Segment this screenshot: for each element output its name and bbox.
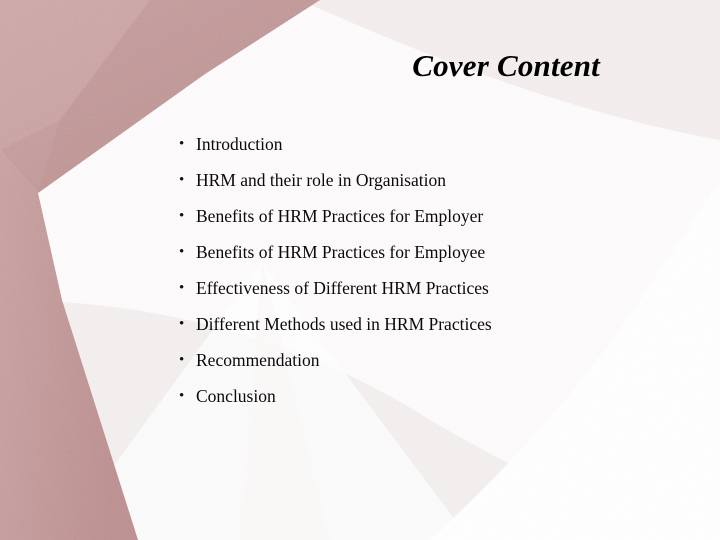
- list-item-label: Different Methods used in HRM Practices: [196, 314, 492, 334]
- list-item-label: Benefits of HRM Practices for Employer: [196, 206, 483, 226]
- bullet-marker-icon: •: [179, 270, 184, 306]
- list-item: • Different Methods used in HRM Practice…: [176, 306, 646, 342]
- bullet-marker-icon: •: [179, 342, 184, 378]
- list-item-label: HRM and their role in Organisation: [196, 170, 446, 190]
- list-item-label: Benefits of HRM Practices for Employee: [196, 242, 485, 262]
- list-item: • Benefits of HRM Practices for Employee: [176, 234, 646, 270]
- bullet-marker-icon: •: [179, 378, 184, 414]
- list-item: • Introduction: [176, 126, 646, 162]
- bullet-marker-icon: •: [179, 306, 184, 342]
- slide-title: Cover Content: [412, 48, 600, 84]
- list-item: • Conclusion: [176, 378, 646, 414]
- bullet-marker-icon: •: [179, 234, 184, 270]
- bullet-marker-icon: •: [179, 162, 184, 198]
- list-item-label: Effectiveness of Different HRM Practices: [196, 278, 489, 298]
- list-item: • Benefits of HRM Practices for Employer: [176, 198, 646, 234]
- bullet-list: • Introduction • HRM and their role in O…: [176, 126, 646, 414]
- list-item-label: Introduction: [196, 134, 283, 154]
- list-item: • Effectiveness of Different HRM Practic…: [176, 270, 646, 306]
- list-item: • HRM and their role in Organisation: [176, 162, 646, 198]
- list-item: • Recommendation: [176, 342, 646, 378]
- bullet-marker-icon: •: [179, 198, 184, 234]
- list-item-label: Conclusion: [196, 386, 276, 406]
- list-item-label: Recommendation: [196, 350, 319, 370]
- slide-canvas: Cover Content • Introduction • HRM and t…: [0, 0, 720, 540]
- bullet-marker-icon: •: [179, 126, 184, 162]
